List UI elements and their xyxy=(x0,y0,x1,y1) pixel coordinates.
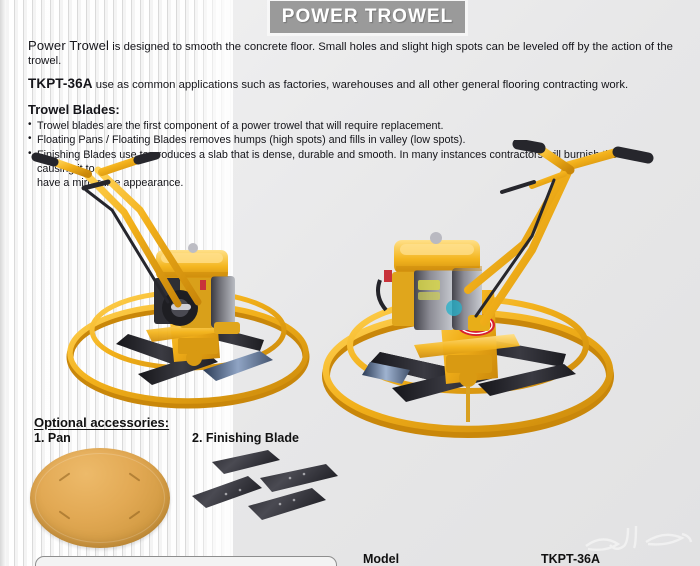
spec-table-box xyxy=(35,556,337,566)
model-paragraph: TKPT-36A use as common applications such… xyxy=(28,76,673,93)
pan-notch xyxy=(129,510,141,519)
power-trowel-image-right: LAKU xyxy=(318,140,698,440)
model-text: use as common applications such as facto… xyxy=(93,79,629,91)
spec-model-value: TKPT-36A xyxy=(541,552,600,566)
page-title-banner: POWER TROWEL xyxy=(270,1,465,33)
finishing-blade-accessory-image xyxy=(186,448,346,553)
power-trowel-image-left xyxy=(28,152,338,422)
accessory-1-label: 1. Pan xyxy=(34,431,71,445)
list-item: Trowel blades are the first component of… xyxy=(28,119,673,133)
intro-paragraph: Power Trowel is designed to smooth the c… xyxy=(28,38,673,68)
intro-product-name: Power Trowel xyxy=(28,38,109,53)
spec-model-label: Model xyxy=(363,552,399,566)
page-title: POWER TROWEL xyxy=(282,6,453,28)
model-code: TKPT-36A xyxy=(28,76,93,91)
pan-accessory-image xyxy=(30,448,170,548)
accessory-2-label: 2. Finishing Blade xyxy=(192,431,299,445)
pan-notch xyxy=(129,472,141,481)
pan-notch xyxy=(59,472,71,481)
left-edge-rail xyxy=(0,0,6,566)
intro-text: is designed to smooth the concrete floor… xyxy=(28,41,673,67)
blades-section-heading: Trowel Blades: xyxy=(28,102,673,117)
pan-notch xyxy=(59,510,71,519)
poster-page: POWER TROWEL Power Trowel is designed to… xyxy=(0,0,700,566)
accessories-heading: Optional accessories: xyxy=(34,415,169,430)
